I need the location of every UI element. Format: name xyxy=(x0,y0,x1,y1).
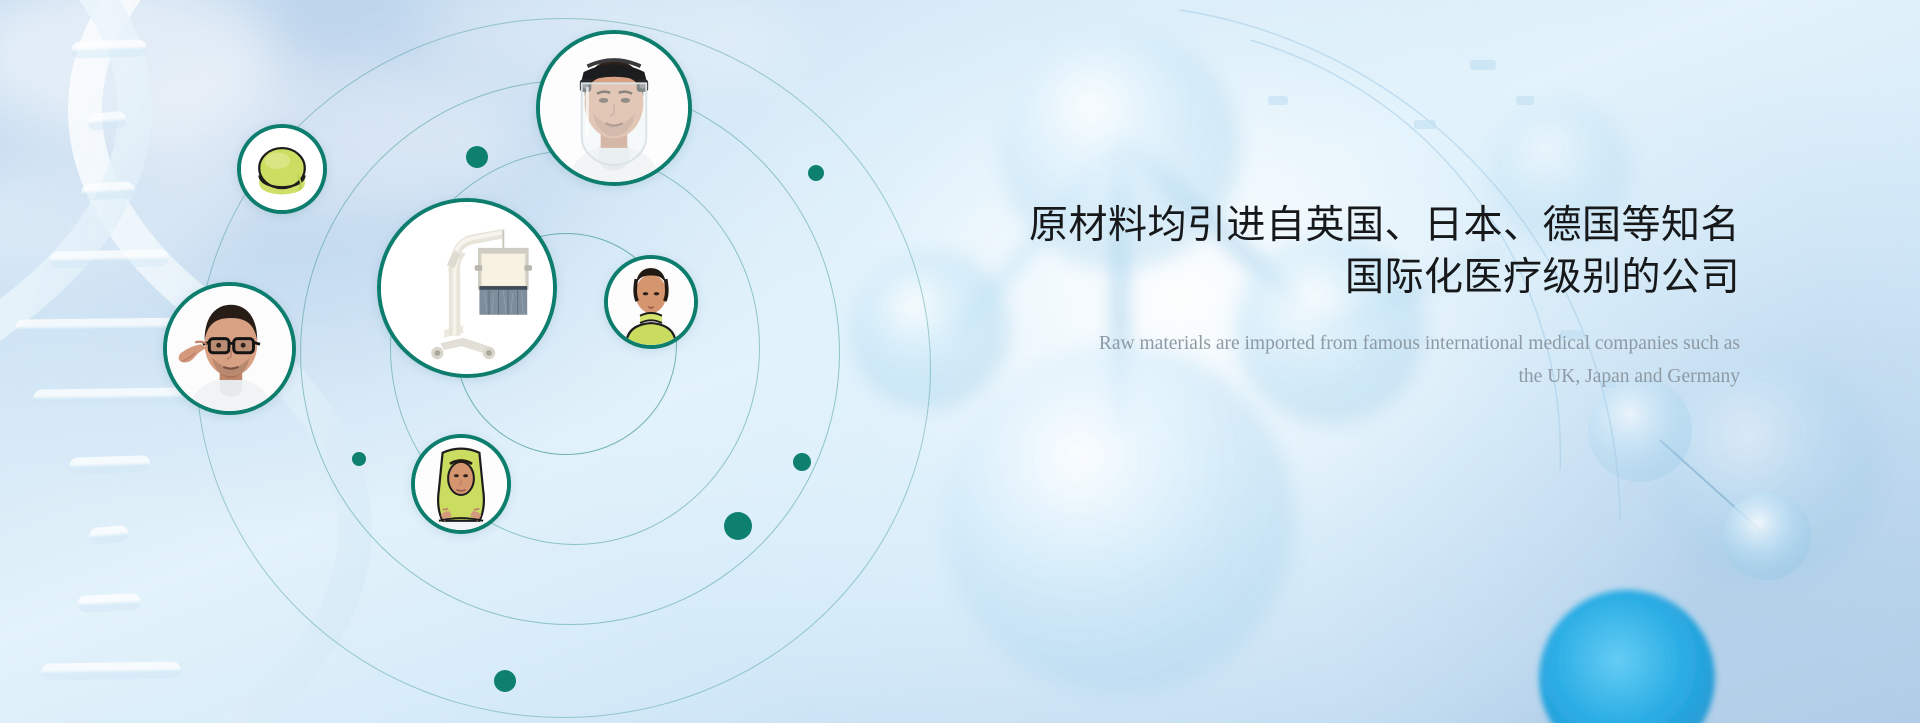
headline-line-1: 原材料均引进自英国、日本、德国等知名 xyxy=(980,200,1740,252)
bubble-protective-hood-woman[interactable] xyxy=(411,434,511,534)
headline-line-2: 国际化医疗级别的公司 xyxy=(980,252,1740,304)
bubble-face-shield-man[interactable] xyxy=(536,30,692,186)
orbit-dot-6 xyxy=(494,670,516,692)
subtitle-block: Raw materials are imported from famous i… xyxy=(980,327,1740,394)
thyroid-collar-photo xyxy=(608,259,694,345)
lead-glasses-photo xyxy=(167,286,292,411)
orbit-dot-3 xyxy=(352,452,366,466)
protective-cap-photo xyxy=(241,128,323,210)
mobile-x-ray-barrier-photo xyxy=(381,202,553,374)
subtitle-line-1: Raw materials are imported from famous i… xyxy=(1099,333,1740,354)
bubble-mobile-x-ray-barrier[interactable] xyxy=(377,198,557,378)
bubble-lead-glasses-man[interactable] xyxy=(163,282,296,415)
face-shield-photo xyxy=(540,34,688,182)
copy-block: 原材料均引进自英国、日本、德国等知名 国际化医疗级别的公司 Raw materi… xyxy=(980,200,1740,394)
subtitle-line-2: the UK, Japan and Germany xyxy=(980,360,1740,394)
bubble-protective-cap[interactable] xyxy=(237,124,327,214)
orbit-dot-1 xyxy=(466,146,488,168)
orbit-dot-2 xyxy=(808,165,824,181)
orbit-dot-4 xyxy=(793,453,811,471)
protective-hood-photo xyxy=(415,438,507,530)
promo-banner: 原材料均引进自英国、日本、德国等知名 国际化医疗级别的公司 Raw materi… xyxy=(0,0,1920,723)
bubble-thyroid-collar-woman[interactable] xyxy=(604,255,698,349)
orbit-dot-5 xyxy=(724,512,752,540)
